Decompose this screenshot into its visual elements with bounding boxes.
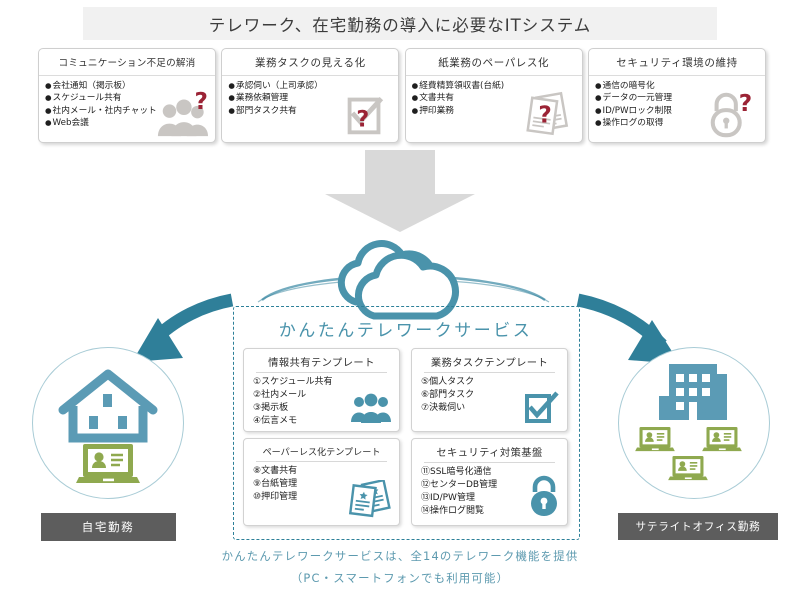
people-group-icon — [350, 392, 392, 424]
house-icon — [63, 374, 153, 438]
laptop-user-icon — [76, 444, 140, 483]
template-box-paperless: ペーパーレス化テンプレート ⑧文書共有 ⑨台紙管理 ⑩押印管理 — [243, 438, 400, 526]
laptop-user-icon — [635, 427, 675, 451]
lock-icon — [528, 474, 560, 518]
template-item: ⑤個人タスク — [421, 376, 567, 389]
laptop-user-icon — [702, 427, 742, 451]
template-heading: ペーパーレス化テンプレート — [244, 439, 399, 458]
template-grid: 情報共有テンプレート ①スケジュール共有 ②社内メール ③掲示板 ④伝言メモ — [243, 348, 568, 526]
footer-line-1: かんたんテレワークサービスは、全14のテレワーク機能を提供 — [0, 548, 800, 564]
node-circle — [618, 347, 770, 499]
template-item: ⑧文書共有 — [253, 465, 399, 478]
node-icons — [33, 348, 183, 498]
checkbox-check-icon — [524, 390, 560, 424]
service-title: かんたんテレワークサービス — [233, 316, 578, 341]
documents-icon — [348, 480, 392, 518]
template-item: ①スケジュール共有 — [253, 376, 399, 389]
template-box-info-sharing: 情報共有テンプレート ①スケジュール共有 ②社内メール ③掲示板 ④伝言メモ — [243, 348, 400, 432]
node-home-work: 自宅勤務 — [32, 347, 184, 541]
node-circle — [32, 347, 184, 499]
node-satellite-office: サテライトオフィス勤務 — [618, 347, 778, 540]
template-heading: 業務タスクテンプレート — [412, 349, 567, 369]
laptop-user-icon — [668, 456, 708, 480]
template-box-security: セキュリティ対策基盤 ⑪SSL暗号化通信 ⑫センターDB管理 ⑬ID/PW管理 … — [411, 438, 568, 526]
template-box-business-task: 業務タスクテンプレート ⑤個人タスク ⑥部門タスク ⑦決裁伺い — [411, 348, 568, 432]
diagram-canvas: テレワーク、在宅勤務の導入に必要なITシステム コミュニケーション不足の解消 会… — [0, 0, 800, 590]
template-heading: セキュリティ対策基盤 — [412, 439, 567, 459]
office-building-icon — [659, 364, 727, 420]
node-label-satellite: サテライトオフィス勤務 — [618, 513, 778, 540]
footer-line-2: （PC・スマートフォンでも利用可能） — [0, 570, 800, 586]
node-label-home: 自宅勤務 — [41, 513, 176, 541]
footer-note: かんたんテレワークサービスは、全14のテレワーク機能を提供 （PC・スマートフォ… — [0, 548, 800, 586]
node-icons — [619, 348, 769, 498]
template-heading: 情報共有テンプレート — [244, 349, 399, 369]
